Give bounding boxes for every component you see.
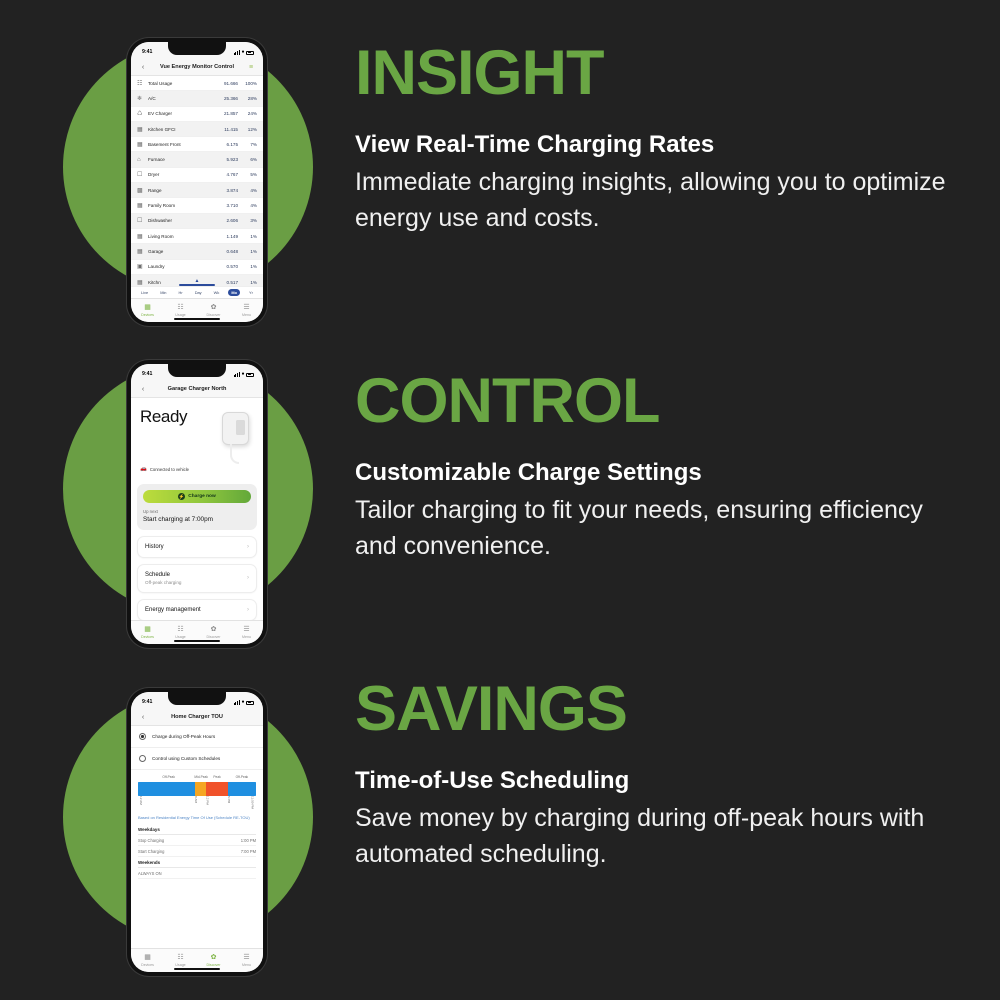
row-percent: 12% [238,127,257,132]
connection-status: 🚗 Connected to vehicle [140,466,189,472]
tab-label: Discover [197,963,230,967]
table-row[interactable]: ▦ Kitchen GFCI 11.415 12% [131,122,263,137]
dishwasher-icon: ☐ [137,217,148,224]
tick-1: 8 AM [194,796,198,803]
laundry-icon: ▣ [137,263,148,270]
page-title: Vue Energy Monitor Control [148,64,246,70]
kicker-heading: SAVINGS [355,678,955,741]
row-percent: 28% [238,96,257,101]
chevron-right-icon: › [247,544,249,550]
outlet-icon: ▦ [137,202,148,209]
charge-now-button[interactable]: ⚡ Charge now [143,490,251,503]
outlet-icon: ▦ [137,248,148,255]
table-row[interactable]: ▦ Basement Front 6.175 7% [131,137,263,152]
segment-mo[interactable]: Mo [228,289,240,296]
page-title: Home Charger TOU [148,714,246,720]
table-row[interactable]: ▣ Laundry 0.570 1% [131,260,263,275]
row-value: 3.874 [214,188,238,193]
phone-mockup-control: 9:41 ● ‹ Garage Charger North Ready [127,360,267,648]
page-title: Garage Charger North [148,386,246,392]
tab-discover[interactable]: ✿ Discover [197,304,230,317]
tab-label: Menu [230,635,263,639]
chevron-right-icon: › [247,607,249,613]
tick-4: 11:59 PM [250,796,254,809]
table-row[interactable]: ☐ Dishwasher 2.606 3% [131,214,263,229]
segment-wk[interactable]: Wk [211,289,223,296]
tick-3: 5 PM [227,796,231,803]
kicker-heading: CONTROL [355,370,955,433]
section-savings: 9:41 ● ‹ Home Charger TOU Charge during … [0,650,1000,983]
row-name: Range [148,188,214,193]
row-percent: 3% [238,218,257,223]
schedule-value: 7:00 PM [241,849,256,854]
tab-label: Usage [164,635,197,639]
list-item-title: History [145,544,164,550]
row-value: 0.648 [214,249,238,254]
status-time: 9:41 [142,49,152,55]
schedule-label: Start Charging [138,849,164,854]
row-value: 0.517 [214,280,238,285]
outlet-icon: ▦ [137,141,148,148]
usage-icon: ☷ [164,954,197,962]
row-percent: 1% [238,249,257,254]
tou-settings: Charge during Off-Peak Hours Control usi… [131,726,263,948]
wifi-icon: ● [241,372,244,377]
upnext-value: Start charging at 7:00pm [143,516,251,523]
tab-label: Discover [197,635,230,639]
chevron-left-icon[interactable]: ‹ [138,714,148,721]
home-indicator [174,640,220,642]
phone-notch [168,42,226,55]
menu-icon: ☰ [230,954,263,962]
row-value: 1.149 [214,234,238,239]
table-row[interactable]: ⌂ Furnace 5.923 6% [131,152,263,167]
text-block-insight: INSIGHT View Real-Time Charging Rates Im… [355,42,955,236]
row-name: Basement Front [148,142,214,147]
tick-2: 12 PM [206,796,210,805]
tou-chart: Off-Peak Mid-Peak Peak Off-Peak 12 AM 8 … [138,775,256,813]
row-value: 0.570 [214,264,238,269]
row-value: 91.666 [214,81,238,86]
tab-label: Menu [230,963,263,967]
radio-selected-icon[interactable] [139,733,146,740]
row-percent: 6% [238,157,257,162]
row-percent: 24% [238,111,257,116]
charge-now-label: Charge now [188,494,215,499]
tab-usage[interactable]: ☷ Usage [164,954,197,967]
row-percent: 5% [238,172,257,177]
tab-label: Usage [164,963,197,967]
schedule-row: Stop Charging 1:00 PM [138,835,256,846]
option-label: Control using Custom Schedules [152,756,220,761]
row-name: Laundry [148,264,214,269]
description-text: Immediate charging insights, allowing yo… [355,165,955,236]
charger-hero: Ready 🚗 Connected to vehicle [131,398,263,484]
sub-heading: Customizable Charge Settings [355,459,955,487]
charger-detail: Ready 🚗 Connected to vehicle ⚡ Charge n [131,398,263,620]
row-value: 6.175 [214,142,238,147]
segment-yr[interactable]: Yr [246,289,256,296]
option-offpeak[interactable]: Charge during Off-Peak Hours [131,726,263,748]
menu-icon: ☰ [230,304,263,312]
tab-menu[interactable]: ☰ Menu [230,626,263,639]
band-offpeak-1 [138,782,195,796]
filter-icon[interactable]: ≡ [246,64,256,71]
row-percent: 1% [238,280,257,285]
chevron-left-icon[interactable]: ‹ [138,64,148,71]
charger-illustration [213,410,255,466]
tab-label: Devices [131,963,164,967]
description-text: Tailor charging to fit your needs, ensur… [355,493,955,564]
text-block-savings: SAVINGS Time-of-Use Scheduling Save mone… [355,678,955,872]
list-item-subtitle: Off-peak charging [145,580,181,585]
row-value: 5.923 [214,157,238,162]
discover-icon: ✿ [197,954,230,962]
table-row[interactable]: ☐ Dryer 4.767 5% [131,168,263,183]
segment-day[interactable]: Day [192,289,205,296]
scroll-indicator[interactable] [179,284,215,286]
row-percent: 4% [238,203,257,208]
row-percent: 100% [238,81,257,86]
nav-bar: ‹ Home Charger TOU [131,709,263,726]
battery-icon [246,373,254,377]
row-name: Dryer [148,172,214,177]
tab-label: Devices [131,313,164,317]
furnace-icon: ⌂ [137,157,148,163]
snowflake-icon: ❄ [137,95,148,102]
nav-bar: ‹ Garage Charger North [131,381,263,398]
segment-min[interactable]: Min [157,289,169,296]
legend-offpeak-2: Off-Peak [236,775,249,779]
time-range-selector[interactable]: Live Min Hr Day Wk Mo Yr [131,286,263,298]
tab-menu[interactable]: ☰ Menu [230,954,263,967]
tou-note: Based on Residential Energy Time Of Use … [138,815,256,820]
row-value: 11.415 [214,127,238,132]
signal-icon [234,50,240,55]
row-name: Kitchen GFCI [148,127,214,132]
usage-icon: ☷ [164,626,197,634]
description-text: Save money by charging during off-peak h… [355,801,955,872]
sub-heading: View Real-Time Charging Rates [355,131,955,159]
row-value: 25.366 [214,96,238,101]
battery-icon [246,51,254,55]
chevron-up-icon[interactable]: ▲ [195,278,200,284]
table-row[interactable]: ♺ EV Charger 21.857 24% [131,107,263,122]
option-custom[interactable]: Control using Custom Schedules [131,748,263,770]
tab-label: Devices [131,635,164,639]
range-icon: ▩ [137,187,148,194]
usage-icon: ☷ [164,304,197,312]
schedule-header-weekends: Weekends [138,857,256,868]
usage-list[interactable]: ☷ Total Usage 91.666 100% ❄ A/C 25.366 2… [131,76,263,286]
sub-heading: Time-of-Use Scheduling [355,767,955,795]
devices-icon: ▦ [131,304,164,312]
chevron-right-icon: › [247,575,249,581]
row-name: Living Room [148,234,214,239]
tab-discover[interactable]: ✿ Discover [197,954,230,967]
tou-tick-labels: 12 AM 8 AM 12 PM 5 PM 11:59 PM [138,796,256,813]
schedule-header-weekdays: Weekdays [138,824,256,835]
band-peak [206,782,227,796]
segment-live[interactable]: Live [138,289,151,296]
ev-charger-icon: ♺ [137,110,148,117]
section-insight: 9:41 ● ‹ Vue Energy Monitor Control ≡ ☷ … [0,0,1000,333]
schedule-label: ALWAYS ON [138,871,162,876]
connection-label: Connected to vehicle [150,467,189,472]
dryer-icon: ☐ [137,171,148,178]
status-time: 9:41 [142,371,152,377]
band-midpeak [195,782,207,796]
legend-peak: Peak [213,775,220,779]
tab-label: Usage [164,313,197,317]
tab-menu[interactable]: ☰ Menu [230,304,263,317]
row-name: Furnace [148,157,214,162]
discover-icon: ✿ [197,626,230,634]
legend-offpeak-1: Off-Peak [162,775,175,779]
wifi-icon: ● [241,50,244,55]
car-icon: 🚗 [140,466,147,472]
schedule-table: Weekdays Stop Charging 1:00 PM Start Cha… [138,824,256,879]
schedule-row: Start Charging 7:00 PM [138,846,256,857]
row-percent: 7% [238,142,257,147]
outlet-icon: ▦ [137,126,148,133]
kicker-heading: INSIGHT [355,42,955,105]
signal-icon [234,700,240,705]
chevron-left-icon[interactable]: ‹ [138,386,148,393]
tou-bar [138,782,256,796]
list-item-schedule[interactable]: Schedule Off-peak charging › [137,564,257,593]
row-percent: 1% [238,234,257,239]
tick-0: 12 AM [139,796,143,805]
list-item-title: Schedule [145,572,181,578]
home-indicator [174,318,220,320]
phone-notch [168,364,226,377]
home-indicator [174,968,220,970]
row-percent: 1% [238,264,257,269]
tab-label: Menu [230,313,263,317]
text-block-control: CONTROL Customizable Charge Settings Tai… [355,370,955,564]
row-name: Total Usage [148,81,214,86]
signal-icon [234,372,240,377]
list-item-title: Energy management [145,607,201,613]
table-row[interactable]: ☷ Total Usage 91.666 100% [131,76,263,91]
tab-devices[interactable]: ▦ Devices [131,304,164,317]
wifi-icon: ● [241,700,244,705]
row-value: 2.606 [214,218,238,223]
outlet-icon: ▦ [137,233,148,240]
table-row[interactable]: ❄ A/C 25.366 28% [131,91,263,106]
section-control: 9:41 ● ‹ Garage Charger North Ready [0,322,1000,655]
row-value: 3.710 [214,203,238,208]
row-value: 4.767 [214,172,238,177]
tab-devices[interactable]: ▦ Devices [131,954,164,967]
band-offpeak-2 [228,782,256,796]
schedule-value: 1:00 PM [241,838,256,843]
schedule-row: ALWAYS ON [138,868,256,879]
nav-bar: ‹ Vue Energy Monitor Control ≡ [131,59,263,76]
outlet-icon: ▦ [137,279,148,286]
list-item-energy-management[interactable]: Energy management › [137,599,257,621]
charge-card: ⚡ Charge now Up next Start charging at 7… [137,484,257,530]
tab-usage[interactable]: ☷ Usage [164,626,197,639]
tab-label: Discover [197,313,230,317]
charger-cord-icon [230,444,239,464]
discover-icon: ✿ [197,304,230,312]
menu-icon: ☰ [230,626,263,634]
tou-legend: Off-Peak Mid-Peak Peak Off-Peak [138,775,256,782]
tab-discover[interactable]: ✿ Discover [197,626,230,639]
upnext-label: Up next [143,509,251,514]
battery-icon [246,701,254,705]
table-row[interactable]: ▦ Family Room 3.710 4% [131,198,263,213]
devices-icon: ▦ [131,954,164,962]
list-item-history[interactable]: History › [137,536,257,558]
table-row[interactable]: ▦ Living Room 1.149 1% [131,229,263,244]
phone-mockup-insight: 9:41 ● ‹ Vue Energy Monitor Control ≡ ☷ … [127,38,267,326]
phone-mockup-savings: 9:41 ● ‹ Home Charger TOU Charge during … [127,688,267,976]
devices-icon: ▦ [131,626,164,634]
row-value: 21.857 [214,111,238,116]
segment-hr[interactable]: Hr [176,289,186,296]
tab-usage[interactable]: ☷ Usage [164,304,197,317]
charger-screen-icon [236,420,245,435]
row-name: Family Room [148,203,214,208]
network-icon: ☷ [137,80,148,87]
radio-unselected-icon[interactable] [139,755,146,762]
row-name: A/C [148,96,214,101]
tab-devices[interactable]: ▦ Devices [131,626,164,639]
status-time: 9:41 [142,699,152,705]
row-name: Dishwasher [148,218,214,223]
row-percent: 4% [238,188,257,193]
schedule-label: Stop Charging [138,838,164,843]
table-row[interactable]: ▦ Garage 0.648 1% [131,244,263,259]
row-name: Garage [148,249,214,254]
row-name: EV Charger [148,111,214,116]
option-label: Charge during Off-Peak Hours [152,734,215,739]
table-row[interactable]: ▩ Range 3.874 4% [131,183,263,198]
bolt-icon: ⚡ [178,493,185,500]
legend-midpeak: Mid-Peak [194,775,207,779]
phone-notch [168,692,226,705]
